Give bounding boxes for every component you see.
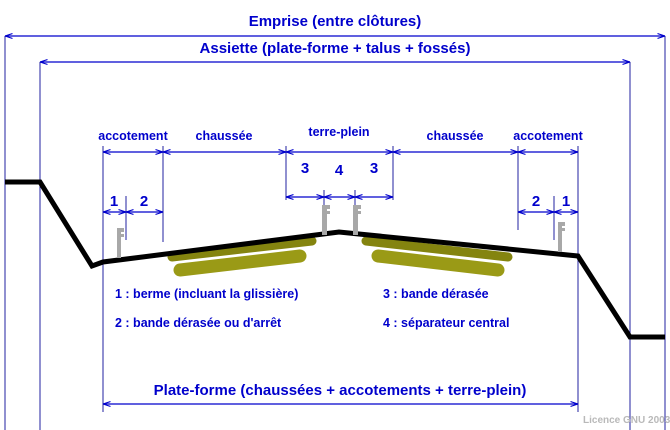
- callout-number-2-left: 2: [140, 194, 148, 209]
- title-assiette: Assiette (plate-forme + talus + fossés): [200, 41, 471, 56]
- callout-number-1-left: 1: [110, 194, 118, 209]
- legend-item-3: 3 : bande dérasée: [383, 288, 489, 301]
- callout-number-3-right: 3: [370, 161, 378, 176]
- section-label-terre-plein: terre-plein: [308, 126, 369, 139]
- section-label-chaussee-left: chaussée: [196, 130, 253, 143]
- road-cross-section-svg: [0, 0, 670, 430]
- guardrail-post-median-left: [322, 205, 327, 235]
- title-emprise: Emprise (entre clôtures): [249, 14, 422, 29]
- legend-item-1: 1 : berme (incluant la glissière): [115, 288, 298, 301]
- guardrail-post-left-shoulder: [117, 228, 121, 258]
- legend-item-2: 2 : bande dérasée ou d'arrêt: [115, 317, 281, 330]
- callout-number-4-center: 4: [335, 163, 343, 178]
- title-plateforme: Plate-forme (chaussées + accotements + t…: [154, 383, 527, 398]
- section-label-chaussee-right: chaussée: [427, 130, 484, 143]
- diagram-canvas: Emprise (entre clôtures) Assiette (plate…: [0, 0, 670, 430]
- callout-number-2-right: 2: [532, 194, 540, 209]
- guardrail-post-median-right: [353, 205, 358, 235]
- callout-number-1-right: 1: [562, 194, 570, 209]
- section-label-accotement-left: accotement: [98, 130, 167, 143]
- license-credit: Licence GNU 2003: [583, 415, 670, 426]
- legend-item-4: 4 : séparateur central: [383, 317, 509, 330]
- section-label-accotement-right: accotement: [513, 130, 582, 143]
- guardrail-post-right-shoulder: [558, 222, 562, 252]
- callout-number-3-left: 3: [301, 161, 309, 176]
